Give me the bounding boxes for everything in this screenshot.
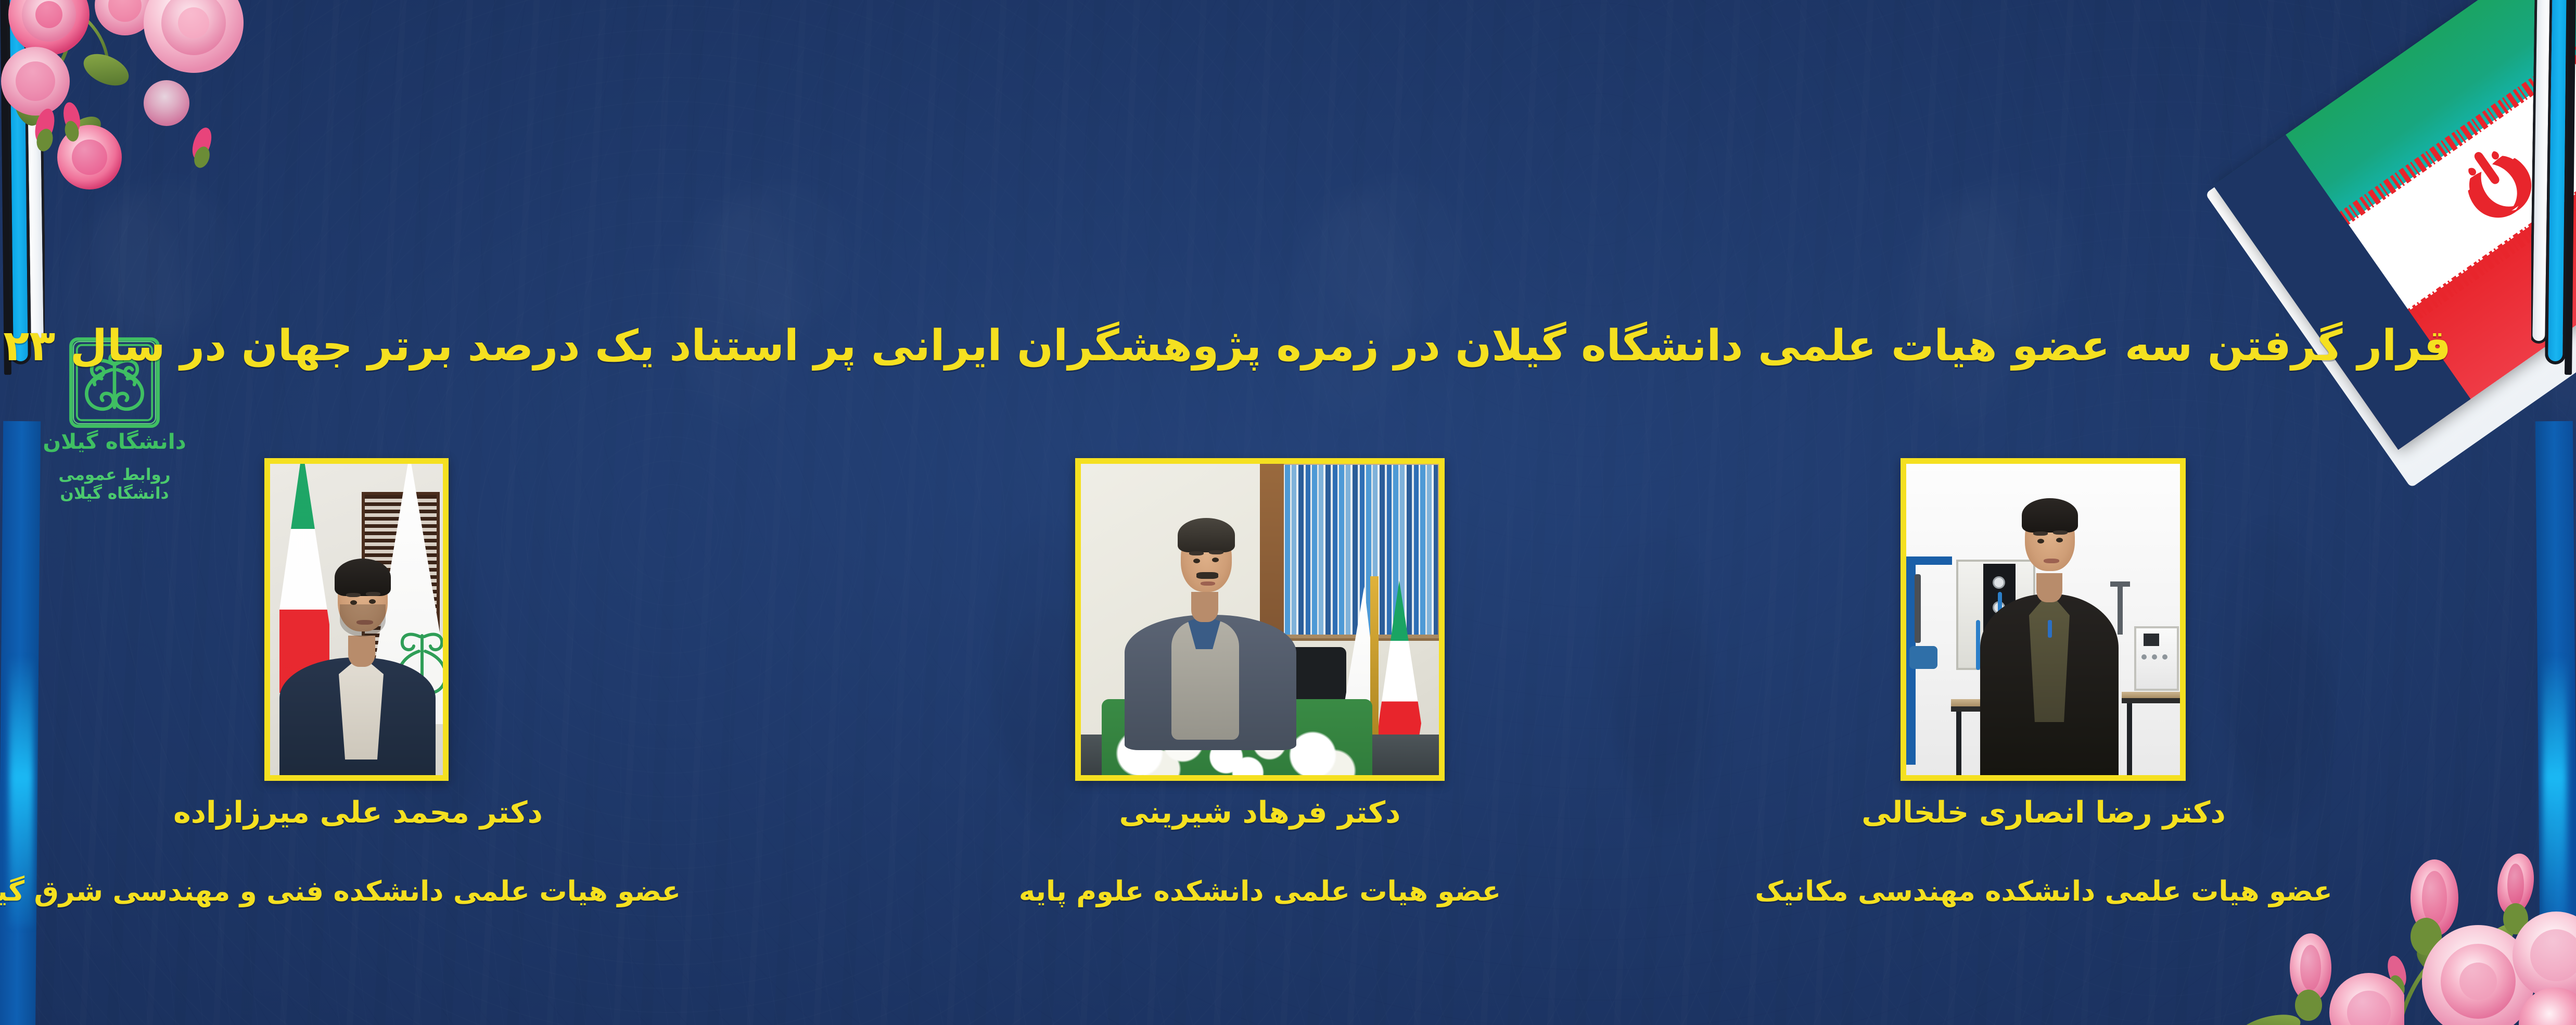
photo-frame bbox=[1075, 458, 1445, 781]
portrait-photo-ansari bbox=[1906, 464, 2180, 775]
portrait-photo-mirzazadeh bbox=[270, 464, 443, 775]
person-role-shirini: عضو هیات علمی دانشکده علوم پایه bbox=[929, 854, 1590, 907]
person-card-shirini: دکتر فرهاد شیرینی عضو هیات علمی دانشکده … bbox=[1075, 458, 1445, 781]
person-name-ansari: دکتر رضا انصاری خلخالی bbox=[1802, 796, 2286, 829]
photo-frame bbox=[1901, 458, 2186, 781]
announcement-banner: دانشگاه گیلان روابط عمومی دانشگاه گیلان … bbox=[0, 0, 2576, 1025]
page-title: قرار گرفتن سه عضو هیات علمی دانشگاه گیلا… bbox=[198, 322, 2451, 371]
logo-wordmark: دانشگاه گیلان bbox=[27, 430, 202, 454]
portraits-row: دکتر محمد علی میرزازاده عضو هیات علمی دا… bbox=[0, 458, 2576, 791]
person-card-ansari: دکتر رضا انصاری خلخالی عضو هیات علمی دان… bbox=[1901, 458, 2186, 781]
person-role-mirzazadeh: عضو هیات علمی دانشکده فنی و مهندسی شرق گ… bbox=[35, 854, 681, 907]
person-name-shirini: دکتر فرهاد شیرینی bbox=[1002, 796, 1517, 829]
person-role-ansari: عضو هیات علمی دانشکده مهندسی مکانیک bbox=[1729, 854, 2358, 907]
person-card-mirzazadeh: دکتر محمد علی میرزازاده عضو هیات علمی دا… bbox=[264, 458, 449, 781]
photo-frame bbox=[264, 458, 449, 781]
portrait-photo-shirini bbox=[1081, 464, 1439, 775]
person-name-mirzazadeh: دکتر محمد علی میرزازاده bbox=[160, 796, 556, 829]
